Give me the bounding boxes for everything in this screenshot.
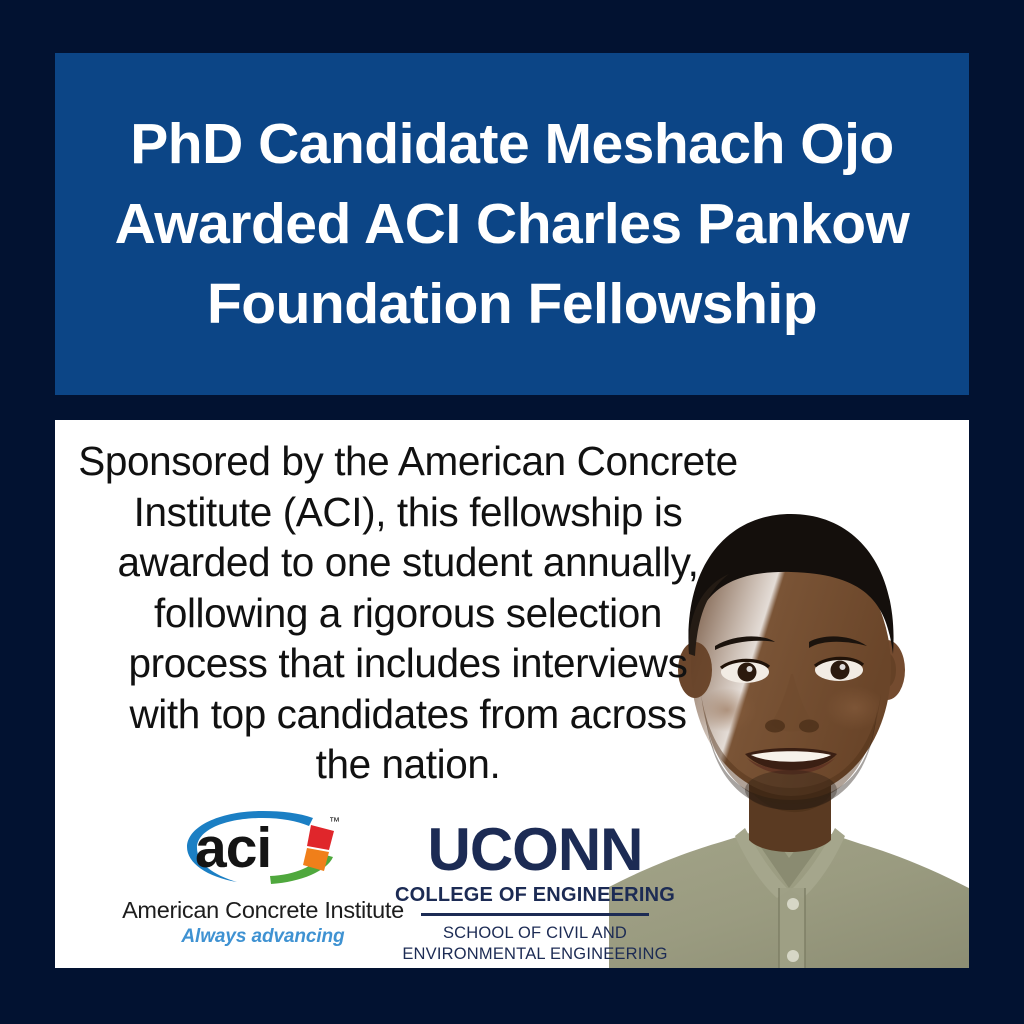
- uconn-divider-rule: [421, 913, 649, 916]
- svg-text:™: ™: [329, 816, 340, 828]
- aci-name: American Concrete Institute: [113, 897, 413, 924]
- body-line-1: Sponsored by the American Concrete: [69, 436, 747, 487]
- header-banner: PhD Candidate Meshach Ojo Awarded ACI Ch…: [55, 53, 969, 395]
- headline-line-3: Foundation Fellowship: [207, 264, 817, 344]
- body-line-2: Institute (ACI), this fellowship is: [69, 487, 747, 538]
- body-line-6: with top candidates from across: [69, 689, 747, 740]
- body-line-3: awarded to one student annually,: [69, 537, 747, 588]
- body-copy: Sponsored by the American Concrete Insti…: [55, 436, 761, 790]
- headline-line-1: PhD Candidate Meshach Ojo: [130, 104, 893, 184]
- svg-text:aci: aci: [195, 816, 271, 880]
- aci-logo: aci ™ American Concrete Institute Always…: [113, 805, 413, 950]
- uconn-logo: UCONN COLLEGE OF ENGINEERING SCHOOL OF C…: [385, 820, 685, 965]
- content-card: Sponsored by the American Concrete Insti…: [55, 420, 969, 968]
- body-line-5: process that includes interviews: [69, 638, 747, 689]
- uconn-wordmark: UCONN: [385, 820, 685, 880]
- uconn-school-line-2: ENVIRONMENTAL ENGINEERING: [385, 944, 685, 965]
- body-line-7: the nation.: [69, 739, 747, 790]
- uconn-school-line-1: SCHOOL OF CIVIL AND: [385, 923, 685, 944]
- headline-line-2: Awarded ACI Charles Pankow: [115, 184, 910, 264]
- body-line-4: following a rigorous selection: [69, 588, 747, 639]
- aci-tagline: Always advancing: [113, 924, 413, 950]
- announcement-poster: PhD Candidate Meshach Ojo Awarded ACI Ch…: [0, 0, 1024, 1024]
- uconn-college-label: COLLEGE OF ENGINEERING: [385, 882, 685, 908]
- aci-mark-icon: aci ™: [179, 805, 347, 889]
